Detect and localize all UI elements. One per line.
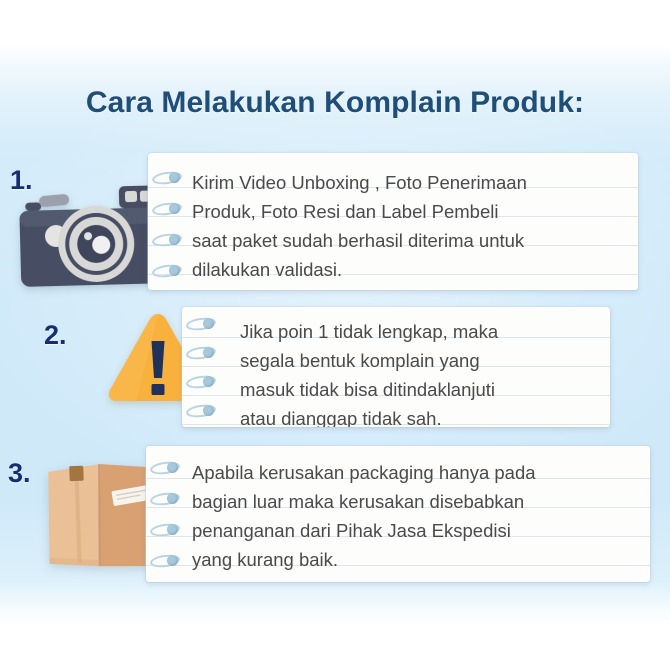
page-title: Cara Melakukan Komplain Produk: <box>0 86 670 120</box>
step-text-2: Jika poin 1 tidak lengkap, maka segala b… <box>240 317 600 427</box>
step-card-1: Kirim Video Unboxing , Foto Penerimaan P… <box>148 153 638 290</box>
spiral-ring <box>186 318 216 332</box>
spiral-ring <box>186 347 216 361</box>
spiral-ring <box>152 234 182 248</box>
spiral-ring <box>150 524 180 538</box>
spiral-ring <box>186 376 216 390</box>
step-card-2: Jika poin 1 tidak lengkap, maka segala b… <box>182 307 610 427</box>
spiral-ring <box>186 405 216 419</box>
spiral-ring <box>150 462 180 476</box>
spiral-ring <box>152 203 182 217</box>
complaint-procedure-infographic: Cara Melakukan Komplain Produk: 1. Kirim… <box>0 0 670 670</box>
spiral-ring <box>152 265 182 279</box>
step-number-3: 3. <box>8 458 31 489</box>
spiral-ring <box>150 555 180 569</box>
step-card-3: Apabila kerusakan packaging hanya pada b… <box>146 446 650 582</box>
spiral-ring <box>150 493 180 507</box>
step-text-1: Kirim Video Unboxing , Foto Penerimaan P… <box>192 168 622 284</box>
step-number-2: 2. <box>44 320 67 351</box>
spiral-ring <box>152 172 182 186</box>
step-text-3: Apabila kerusakan packaging hanya pada b… <box>192 458 632 574</box>
